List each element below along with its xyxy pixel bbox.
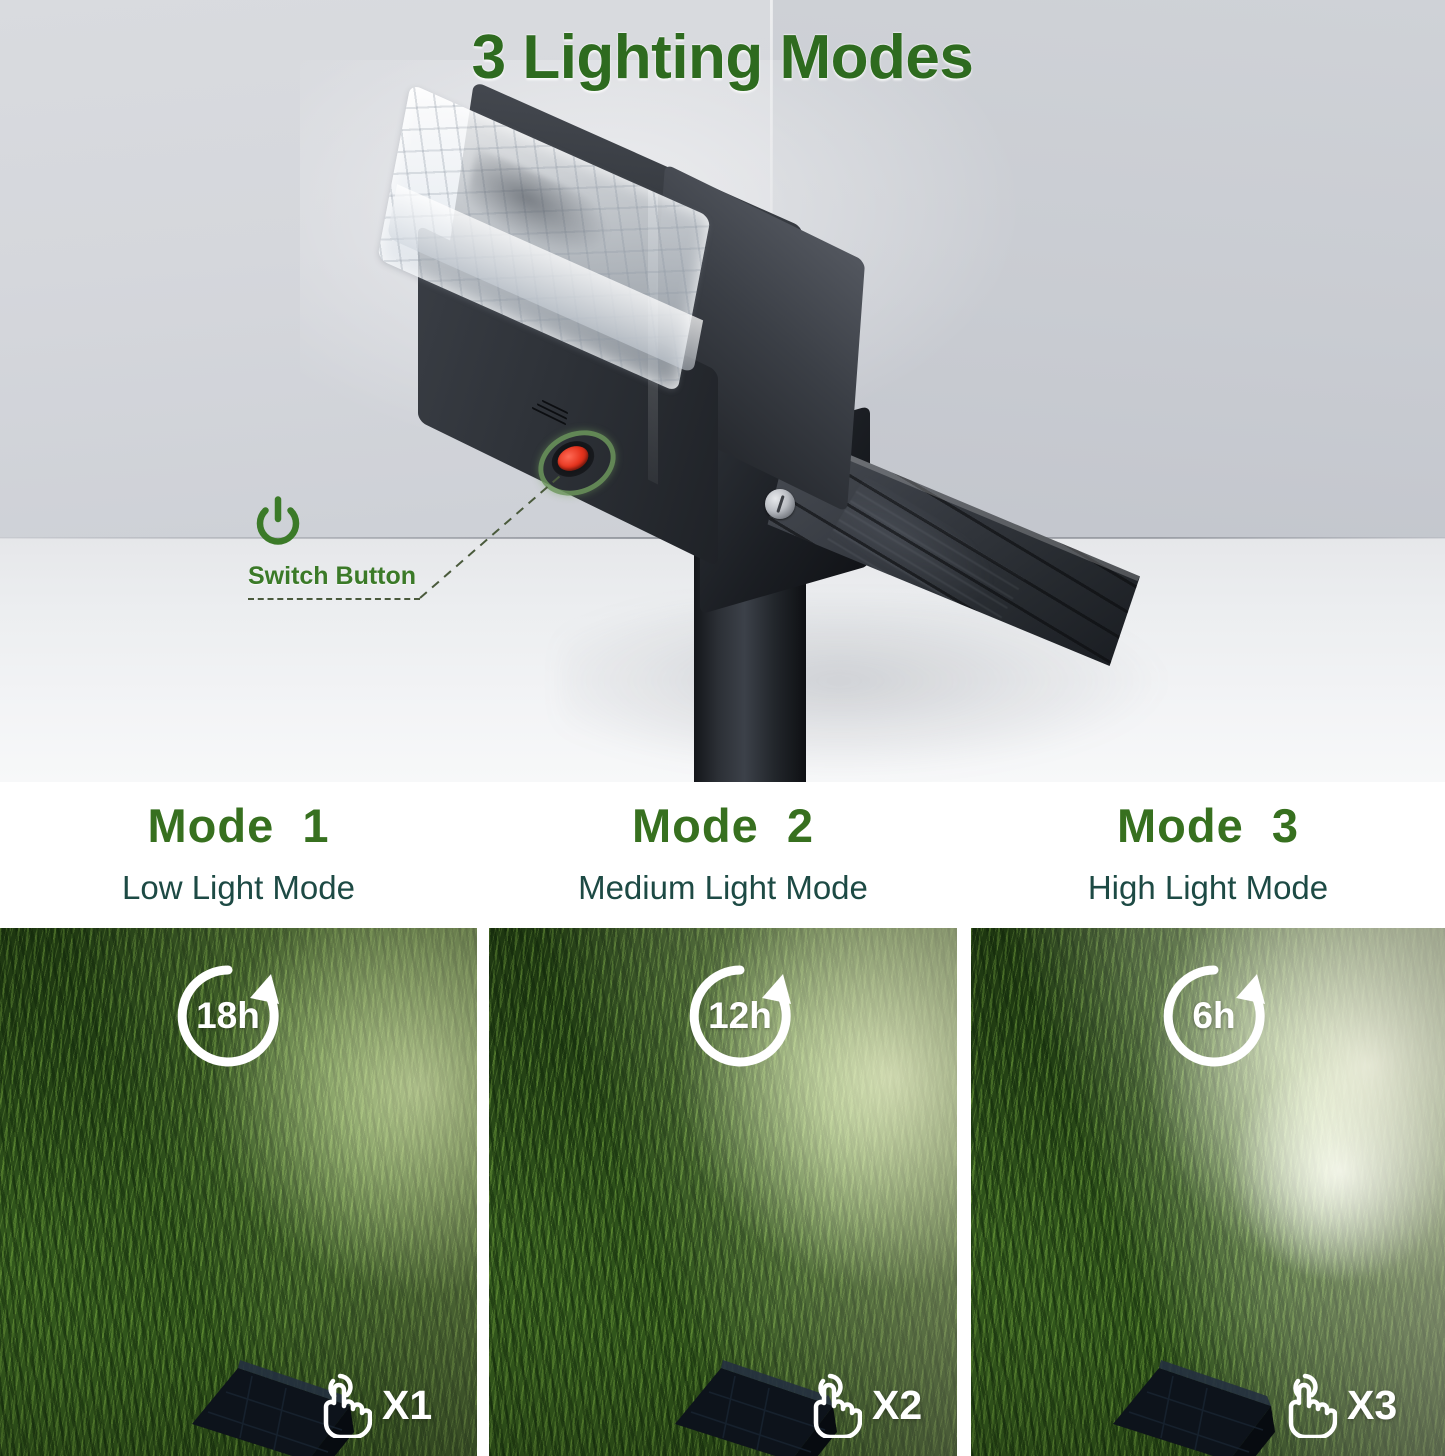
mode-3-press-indicator: X3 — [1275, 1372, 1397, 1438]
mode-3-panel: 6h X3 — [971, 928, 1445, 1456]
mode-2-header: Mode 2 Medium Light Mode — [489, 782, 957, 928]
hero-product-photo: 3 Lighting Modes — [0, 0, 1445, 782]
mode-1-duration-text: 18h — [167, 960, 289, 1072]
tap-hand-icon — [310, 1372, 372, 1438]
mode-3-header: Mode 3 High Light Mode — [971, 782, 1445, 928]
mode-3-title: Mode 3 — [971, 782, 1445, 849]
tap-hand-icon — [800, 1372, 862, 1438]
mode-2-panel: 12h X2 — [489, 928, 957, 1456]
mode-2-duration-text: 12h — [679, 960, 801, 1072]
mode-3-duration-badge: 6h — [1153, 960, 1275, 1072]
mode-2-title: Mode 2 — [489, 782, 957, 849]
mode-3-press-count: X3 — [1347, 1385, 1397, 1426]
mode-1-subtitle: Low Light Mode — [0, 849, 477, 904]
mode-2-duration-badge: 12h — [679, 960, 801, 1072]
mode-1-duration-badge: 18h — [167, 960, 289, 1072]
mode-1-title: Mode 1 — [0, 782, 477, 849]
mode-2-press-count: X2 — [872, 1385, 922, 1426]
bracket-screw — [765, 489, 795, 519]
lighting-modes-section: Mode 1 Low Light Mode 18h — [0, 782, 1445, 1456]
mode-1-press-count: X1 — [382, 1385, 432, 1426]
mode-2-press-indicator: X2 — [800, 1372, 922, 1438]
mode-3-spotlight-fixture — [1099, 1346, 1299, 1456]
mode-1-press-indicator: X1 — [310, 1372, 432, 1438]
mode-2-subtitle: Medium Light Mode — [489, 849, 957, 904]
tap-hand-icon — [1275, 1372, 1337, 1438]
mode-3-duration-text: 6h — [1153, 960, 1275, 1072]
mode-1-panel: 18h X1 — [0, 928, 477, 1456]
mode-3-subtitle: High Light Mode — [971, 849, 1445, 904]
mode-1-header: Mode 1 Low Light Mode — [0, 782, 477, 928]
solar-spotlight-product — [0, 0, 1445, 782]
